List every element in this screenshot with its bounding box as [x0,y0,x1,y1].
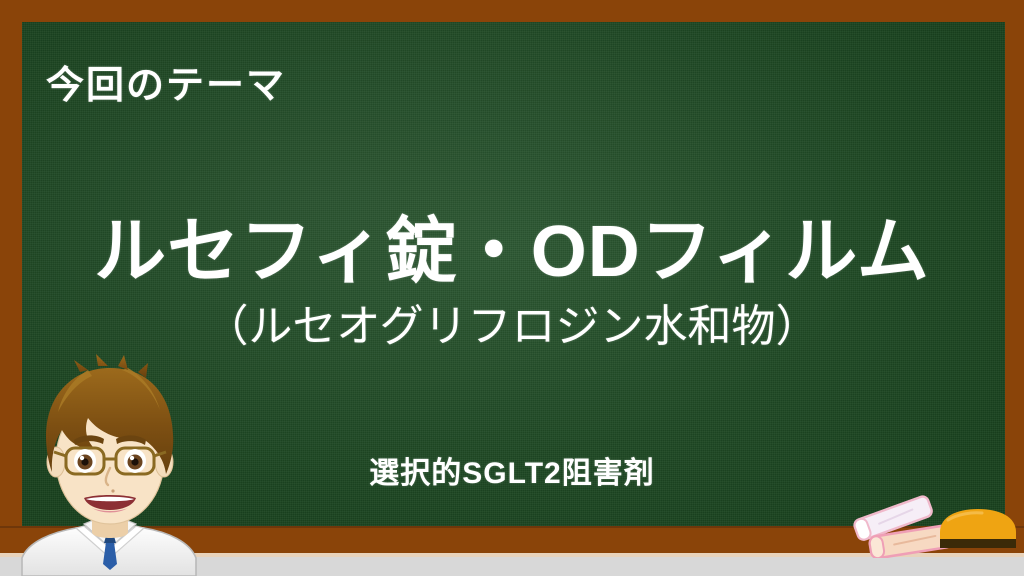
slide-root: 今回のテーマ ルセフィ錠・ODフィルム （ルセオグリフロジン水和物） 選択的SG… [0,0,1024,576]
teacher-avatar [18,352,198,576]
page-title: ルセフィ錠・ODフィルム [0,192,1024,297]
blackboard-eraser-icon [940,509,1016,548]
generic-name-subtitle: （ルセオグリフロジン水和物） [0,290,1024,354]
topic-label: 今回のテーマ [46,54,286,109]
chalk-tray-items [848,492,1024,558]
